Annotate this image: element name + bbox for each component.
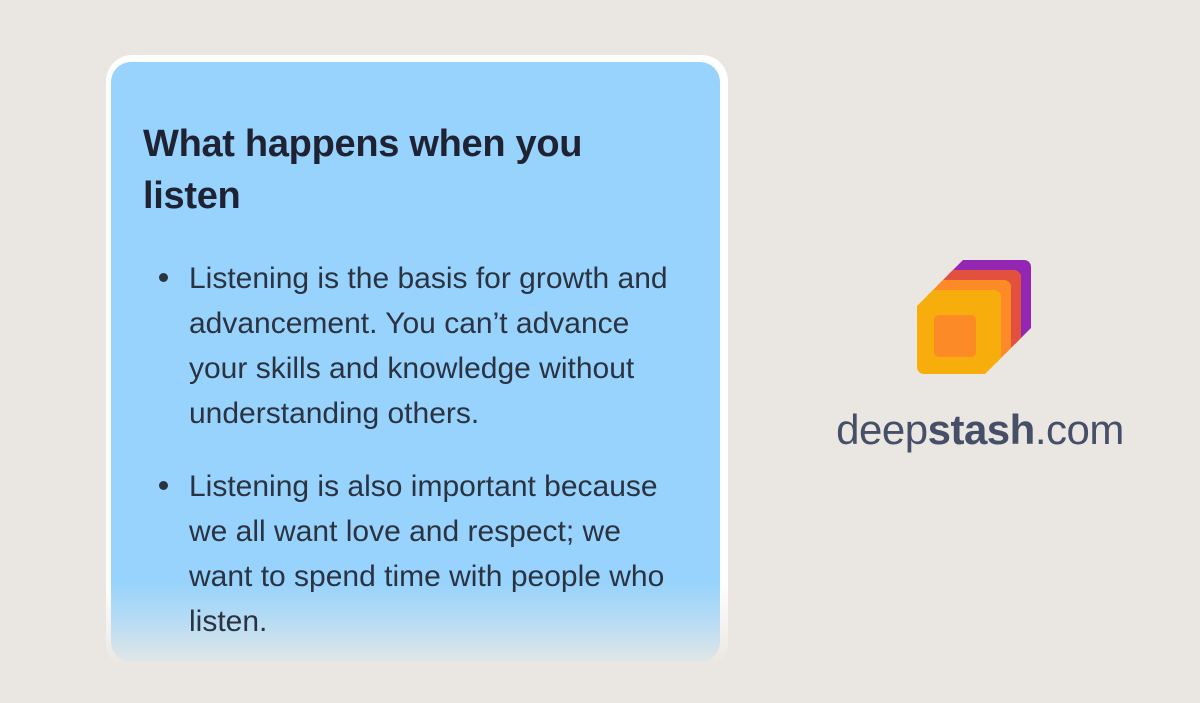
list-item-text: Listening is also important because we a… [189, 470, 664, 638]
bullet-dot-icon [159, 273, 168, 282]
bullet-dot-icon [159, 481, 168, 490]
list-item-text: Listening is the basis for growth and ad… [189, 262, 668, 430]
idea-card[interactable]: What happens when you listen Listening i… [106, 55, 728, 670]
card-bullet-list: Listening is the basis for growth and ad… [143, 256, 682, 644]
deepstash-logo-icon [905, 240, 1055, 390]
wordmark-deep: deep [836, 406, 927, 453]
page-title: What happens when you listen [143, 119, 682, 222]
wordmark-domain: .com [1035, 406, 1124, 453]
brand-wordmark: deepstash.com [836, 406, 1124, 454]
card-body: What happens when you listen Listening i… [111, 62, 720, 662]
brand-block: deepstash.com [760, 240, 1200, 500]
list-item: Listening is the basis for growth and ad… [143, 256, 682, 436]
wordmark-stash: stash [928, 406, 1035, 453]
list-item: Listening is also important because we a… [143, 464, 682, 644]
